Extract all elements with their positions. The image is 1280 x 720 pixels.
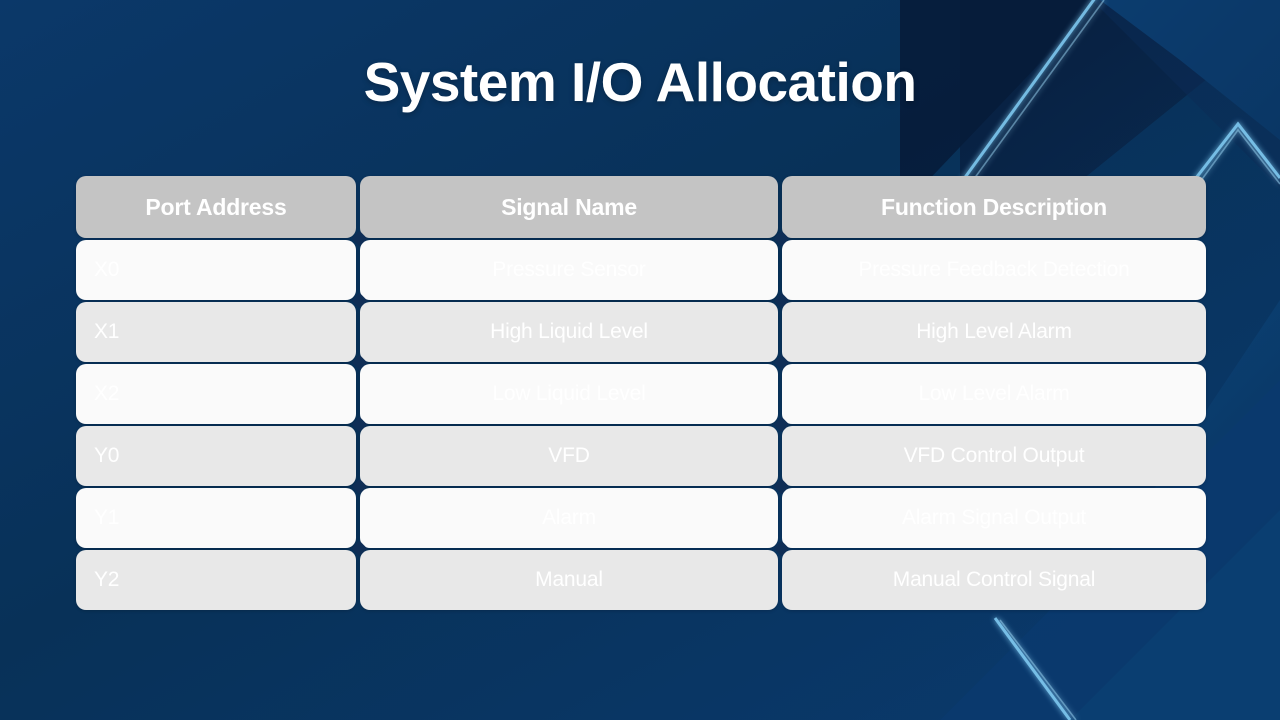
- cell-signal-name: High Liquid Level: [360, 302, 778, 362]
- cell-port-address: Y0: [76, 426, 356, 486]
- table-row[interactable]: Y0 VFD VFD Control Output: [76, 426, 1206, 486]
- table-row[interactable]: X2 Low Liquid Level Low Level Alarm: [76, 364, 1206, 424]
- cell-signal-name: Low Liquid Level: [360, 364, 778, 424]
- column-header-port-address: Port Address: [76, 176, 356, 238]
- title-container: System I/O Allocation: [0, 52, 1280, 113]
- cell-signal-name: VFD: [360, 426, 778, 486]
- cell-signal-name: Manual: [360, 550, 778, 610]
- table-row[interactable]: X1 High Liquid Level High Level Alarm: [76, 302, 1206, 362]
- cell-function-description: Manual Control Signal: [782, 550, 1206, 610]
- cell-function-description: Alarm Signal Output: [782, 488, 1206, 548]
- column-header-function-description: Function Description: [782, 176, 1206, 238]
- table-row[interactable]: Y2 Manual Manual Control Signal: [76, 550, 1206, 610]
- cell-port-address: X2: [76, 364, 356, 424]
- io-allocation-table: Port Address Signal Name Function Descri…: [76, 176, 1206, 612]
- cell-function-description: Low Level Alarm: [782, 364, 1206, 424]
- table-header-row: Port Address Signal Name Function Descri…: [76, 176, 1206, 238]
- cell-port-address: Y2: [76, 550, 356, 610]
- cell-function-description: High Level Alarm: [782, 302, 1206, 362]
- cell-port-address: X0: [76, 240, 356, 300]
- cell-signal-name: Alarm: [360, 488, 778, 548]
- table-row[interactable]: Y1 Alarm Alarm Signal Output: [76, 488, 1206, 548]
- cell-port-address: Y1: [76, 488, 356, 548]
- column-header-signal-name: Signal Name: [360, 176, 778, 238]
- cell-function-description: Pressure Feedback Detection: [782, 240, 1206, 300]
- table-row[interactable]: X0 Pressure Sensor Pressure Feedback Det…: [76, 240, 1206, 300]
- cell-port-address: X1: [76, 302, 356, 362]
- cell-function-description: VFD Control Output: [782, 426, 1206, 486]
- cell-signal-name: Pressure Sensor: [360, 240, 778, 300]
- page-title: System I/O Allocation: [0, 52, 1280, 113]
